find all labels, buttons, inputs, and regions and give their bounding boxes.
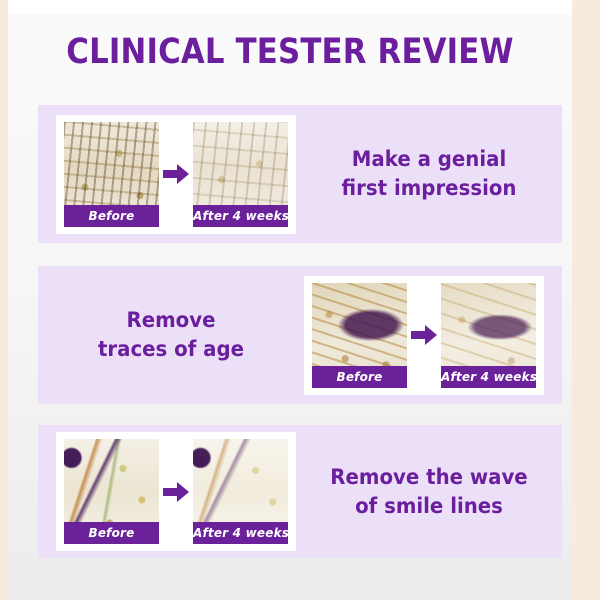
- page-title: CLINICAL TESTER REVIEW: [42, 30, 538, 74]
- benefit-panel-1: Before After 4 weeks Make a genial first…: [38, 105, 562, 243]
- caption-line: of smile lines: [310, 492, 549, 521]
- before-after-card: Before After 4 weeks: [56, 115, 296, 234]
- benefit-panel-2: Before After 4 weeks Remove traces of ag…: [38, 266, 562, 404]
- after-photo: After 4 weeks: [441, 283, 536, 388]
- caption-line: Remove: [52, 306, 291, 335]
- after-photo: After 4 weeks: [193, 439, 288, 544]
- after-label: After 4 weeks: [193, 205, 288, 227]
- arrow-right-icon: [159, 122, 193, 227]
- benefit-caption-3: Remove the wave of smile lines: [304, 463, 554, 521]
- arrow-right-icon: [159, 439, 193, 544]
- benefit-caption-2: Remove traces of age: [46, 306, 296, 364]
- after-label: After 4 weeks: [193, 522, 288, 544]
- ad-sheet: CLINICAL TESTER REVIEW Before After 4 we…: [8, 0, 572, 600]
- arrow-right-icon: [407, 283, 441, 388]
- before-photo: Before: [64, 122, 159, 227]
- before-after-card: Before After 4 weeks: [56, 432, 296, 551]
- after-label: After 4 weeks: [441, 366, 536, 388]
- before-photo: Before: [64, 439, 159, 544]
- after-photo: After 4 weeks: [193, 122, 288, 227]
- before-photo: Before: [312, 283, 407, 388]
- infographic-page: CLINICAL TESTER REVIEW Before After 4 we…: [0, 0, 600, 600]
- caption-line: Remove the wave: [310, 463, 549, 492]
- caption-line: traces of age: [52, 335, 291, 364]
- benefit-panel-3: Before After 4 weeks Remove the wave of …: [38, 425, 562, 558]
- before-label: Before: [64, 205, 159, 227]
- before-label: Before: [64, 522, 159, 544]
- before-label: Before: [312, 366, 407, 388]
- before-after-card: Before After 4 weeks: [304, 276, 544, 395]
- caption-line: Make a genial: [310, 145, 549, 174]
- benefit-caption-1: Make a genial first impression: [304, 145, 554, 203]
- caption-line: first impression: [310, 174, 549, 203]
